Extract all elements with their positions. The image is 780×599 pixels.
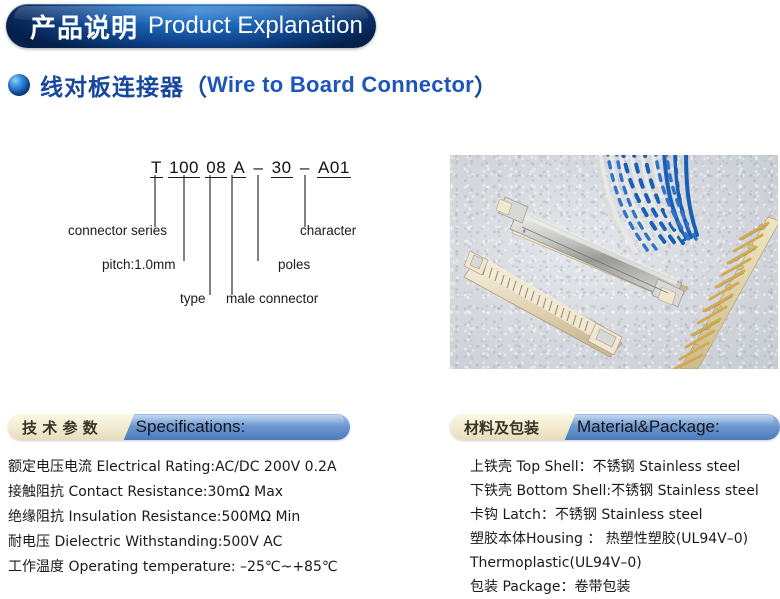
photo-contents (450, 155, 778, 369)
subtitle-english: Wire to Board Connector (207, 72, 474, 98)
material-title-english: Material&Package: (577, 417, 720, 437)
specifications-banner-cream-part: 技 术 参 数 (8, 414, 116, 440)
material-banner-cream-part: 材料及包装 (450, 414, 557, 440)
product-subtitle: 线对板连接器 （ Wire to Board Connector ） (8, 68, 497, 102)
subtitle-paren-open: （ (184, 68, 207, 102)
specifications-title-chinese: 技 术 参 数 (22, 417, 98, 438)
part-number-callout-label: connector series (68, 223, 167, 238)
page-title-english: Product Explanation (148, 12, 363, 40)
specifications-list: 额定电压电流 Electrical Rating:AC/DC 200V 0.2A… (8, 455, 438, 580)
material-item: 下铁壳 Bottom Shell:不锈钢 Stainless steel (470, 479, 780, 503)
wire-bundle (596, 155, 697, 253)
part-number-callout-label: type (180, 291, 206, 306)
material-list: 上铁壳 Top Shell：不锈钢 Stainless steel下铁壳 Bot… (470, 455, 780, 599)
material-banner-blue-part: Material&Package: (557, 414, 780, 440)
specification-item: 接触阻抗 Contact Resistance:30mΩ Max (8, 480, 438, 505)
material-title-chinese: 材料及包装 (464, 417, 539, 438)
page-title-chinese: 产品说明 (30, 8, 138, 45)
part-number-diagram: T 100 08 A – 30 – A01 connector seriespi… (30, 150, 430, 315)
specification-item: 绝缘阻抗 Insulation Resistance:500MΩ Min (8, 505, 438, 530)
material-item: Thermoplastic(UL94V–0) (470, 551, 780, 575)
part-number-callout-label: poles (278, 257, 310, 272)
blue-sphere-icon (8, 74, 30, 96)
specification-item: 工作温度 Operating temperature: –25℃~+85℃ (8, 555, 438, 580)
specifications-banner: 技 术 参 数 Specifications: (8, 414, 350, 440)
specifications-title-english: Specifications: (136, 417, 246, 437)
material-item: 卡钩 Latch：不锈钢 Stainless steel (470, 503, 780, 527)
page-title-banner: 产品说明 Product Explanation (6, 4, 376, 48)
material-item: 上铁壳 Top Shell：不锈钢 Stainless steel (470, 455, 780, 479)
part-number-callout-label: character (300, 223, 356, 238)
material-banner: 材料及包装 Material&Package: (450, 414, 780, 440)
subtitle-chinese: 线对板连接器 (40, 68, 184, 102)
product-photo (450, 155, 778, 369)
specification-item: 额定电压电流 Electrical Rating:AC/DC 200V 0.2A (8, 455, 438, 480)
specifications-banner-blue-part: Specifications: (116, 414, 350, 440)
part-number-callout-label: pitch:1.0mm (102, 257, 176, 272)
subtitle-paren-close: ） (474, 68, 497, 102)
specification-item: 耐电压 Dielectric Withstanding:500V AC (8, 530, 438, 555)
part-number-callout-label: male connector (226, 291, 318, 306)
material-item: 塑胶本体Housing ： 热塑性塑胶(UL94V–0) (470, 527, 780, 551)
material-item: 包装 Package：卷带包装 (470, 575, 780, 599)
